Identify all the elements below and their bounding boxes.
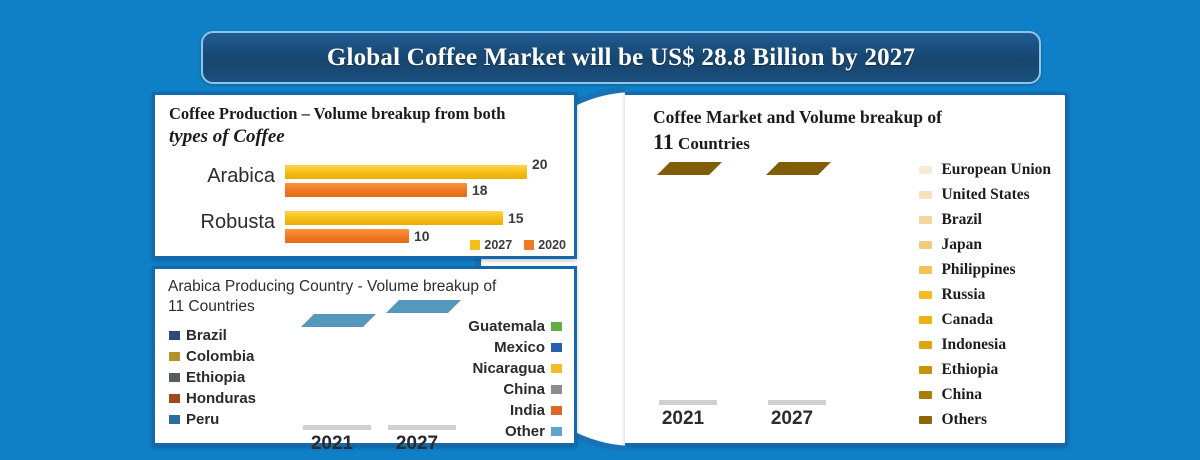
legend-label: China: [503, 381, 545, 398]
panel-production-title-line2: types of Coffee: [169, 126, 569, 148]
arabica-legend-right: Guatemala Mexico Nicaragua China India O…: [468, 316, 562, 442]
legend-item-china: China: [468, 379, 562, 400]
bar-category-label: Robusta: [167, 211, 275, 234]
panel-arabica-title-line2: 11 Countries: [168, 298, 255, 315]
bar-robusta-2020: 10: [285, 229, 409, 243]
bar-robusta-2027: 15: [285, 211, 503, 225]
legend-label: Russia: [941, 286, 985, 304]
legend-label: European Union: [941, 161, 1051, 179]
legend-label: Ethiopia: [186, 369, 245, 386]
panel-market-title-line2: 11 Countries: [653, 129, 1053, 154]
legend-item-united-states: United States: [919, 182, 1051, 207]
legend-label: Others: [941, 411, 987, 429]
panel-arabica-title: Arabica Producing Country - Volume break…: [168, 277, 563, 317]
legend-label: Honduras: [186, 390, 256, 407]
legend-item-honduras: Honduras: [169, 388, 256, 409]
legend-swatch: [919, 291, 932, 299]
bar-value-label: 10: [414, 228, 430, 244]
legend-swatch: [919, 266, 932, 274]
legend-label: Philippines: [941, 261, 1015, 279]
legend-label: Colombia: [186, 348, 254, 365]
legend-item-ethiopia: Ethiopia: [169, 367, 256, 388]
legend-swatch: [169, 352, 180, 361]
legend-label: United States: [941, 186, 1029, 204]
legend-item-china: China: [919, 382, 1051, 407]
legend-item-canada: Canada: [919, 307, 1051, 332]
legend-item-other: Other: [468, 421, 562, 442]
legend-swatch: [919, 241, 932, 249]
legend-swatch: [919, 166, 932, 174]
column-axis-label: 2021: [301, 433, 363, 455]
stacked-column-market-2027: 2027: [766, 175, 818, 400]
legend-item-nicaragua: Nicaragua: [468, 358, 562, 379]
legend-item-2020: 2020: [524, 238, 566, 252]
column-top-face: [386, 300, 461, 313]
legend-label: Indonesia: [941, 336, 1006, 354]
panel-market-title-number: 11: [653, 129, 674, 154]
legend-item-philippines: Philippines: [919, 257, 1051, 282]
legend-label: Brazil: [941, 211, 981, 229]
column-shadow: [303, 425, 371, 430]
legend-label: Other: [505, 423, 545, 440]
legend-swatch: [169, 373, 180, 382]
stacked-column-arabica-2027: 2027: [386, 313, 448, 425]
bar-fill: [285, 183, 467, 197]
legend-swatch: [919, 366, 932, 374]
legend-swatch: [919, 216, 932, 224]
legend-label: Peru: [186, 411, 219, 428]
legend-swatch: [551, 406, 562, 415]
legend-item-brazil: Brazil: [169, 325, 256, 346]
panel-coffee-production: Coffee Production – Volume breakup from …: [152, 92, 577, 259]
legend-swatch: [470, 240, 480, 250]
legend-label: Brazil: [186, 327, 227, 344]
legend-swatch: [169, 394, 180, 403]
bar-fill: [285, 165, 527, 179]
legend-label: China: [941, 386, 982, 404]
legend-item-ethiopia: Ethiopia: [919, 357, 1051, 382]
bar-arabica-2027: 20: [285, 165, 527, 179]
panel-production-title-line1: Coffee Production – Volume breakup from …: [169, 104, 505, 123]
panel-market-title-countries: Countries: [674, 134, 750, 153]
stacked-column-market-2021: 2021: [657, 175, 709, 400]
panel-production-title: Coffee Production – Volume breakup from …: [169, 105, 569, 148]
legend-item-russia: Russia: [919, 282, 1051, 307]
legend-swatch: [919, 191, 932, 199]
legend-swatch: [919, 316, 932, 324]
column-axis-label: 2021: [657, 408, 709, 430]
legend-item-mexico: Mexico: [468, 337, 562, 358]
panel-arabica-countries: Arabica Producing Country - Volume break…: [152, 266, 577, 446]
column-axis-label: 2027: [386, 433, 448, 455]
legend-swatch: [551, 427, 562, 436]
column-shadow: [768, 400, 826, 405]
panel-market-title: Coffee Market and Volume breakup of 11 C…: [653, 107, 1053, 154]
market-legend: European Union United States Brazil Japa…: [919, 157, 1051, 432]
bar-category-label: Arabica: [167, 165, 275, 188]
column-top-face: [301, 314, 376, 327]
panel-market-title-line1: Coffee Market and Volume breakup of: [653, 107, 942, 127]
panel-coffee-market: Coffee Market and Volume breakup of 11 C…: [625, 92, 1068, 446]
bar-value-label: 20: [532, 156, 548, 172]
column-top-face: [657, 162, 722, 175]
headline-banner: Global Coffee Market will be US$ 28.8 Bi…: [201, 31, 1041, 84]
legend-label: Canada: [941, 311, 993, 329]
bar-group-arabica: Arabica 20 18: [167, 163, 571, 203]
legend-item-indonesia: Indonesia: [919, 332, 1051, 357]
infographic-canvas: Global Coffee Market will be US$ 28.8 Bi…: [0, 0, 1200, 460]
page-title: Global Coffee Market will be US$ 28.8 Bi…: [327, 44, 915, 72]
legend-swatch: [919, 391, 932, 399]
legend-swatch: [919, 416, 932, 424]
legend-label: Japan: [941, 236, 982, 254]
legend-item-european-union: European Union: [919, 157, 1051, 182]
legend-item-india: India: [468, 400, 562, 421]
legend-label: Mexico: [494, 339, 545, 356]
legend-swatch: [551, 322, 562, 331]
legend-label: India: [510, 402, 545, 419]
column-shadow: [659, 400, 717, 405]
legend-item-2027: 2027: [470, 238, 512, 252]
column-shadow: [388, 425, 456, 430]
legend-label: Ethiopia: [941, 361, 998, 379]
legend-swatch: [551, 343, 562, 352]
legend-item-brazil: Brazil: [919, 207, 1051, 232]
legend-swatch: [169, 331, 180, 340]
production-legend: 2027 2020: [470, 238, 566, 252]
legend-swatch: [919, 341, 932, 349]
bar-fill: [285, 229, 409, 243]
legend-item-others: Others: [919, 407, 1051, 432]
bar-value-label: 15: [508, 210, 524, 226]
column-axis-label: 2027: [766, 408, 818, 430]
legend-item-colombia: Colombia: [169, 346, 256, 367]
legend-swatch: [551, 385, 562, 394]
bar-value-label: 18: [472, 182, 488, 198]
legend-item-peru: Peru: [169, 409, 256, 430]
legend-item-japan: Japan: [919, 232, 1051, 257]
bar-arabica-2020: 18: [285, 183, 467, 197]
legend-swatch: [169, 415, 180, 424]
legend-label: Nicaragua: [472, 360, 545, 377]
legend-label: 2027: [484, 238, 512, 252]
legend-label: 2020: [538, 238, 566, 252]
legend-swatch: [524, 240, 534, 250]
column-top-face: [766, 162, 831, 175]
legend-label: Guatemala: [468, 318, 545, 335]
panel-arabica-title-line1: Arabica Producing Country - Volume break…: [168, 278, 496, 295]
legend-swatch: [551, 364, 562, 373]
legend-item-guatemala: Guatemala: [468, 316, 562, 337]
bar-fill: [285, 211, 503, 225]
arabica-legend-left: Brazil Colombia Ethiopia Honduras Peru: [169, 325, 256, 430]
stacked-column-arabica-2021: 2021: [301, 327, 363, 425]
